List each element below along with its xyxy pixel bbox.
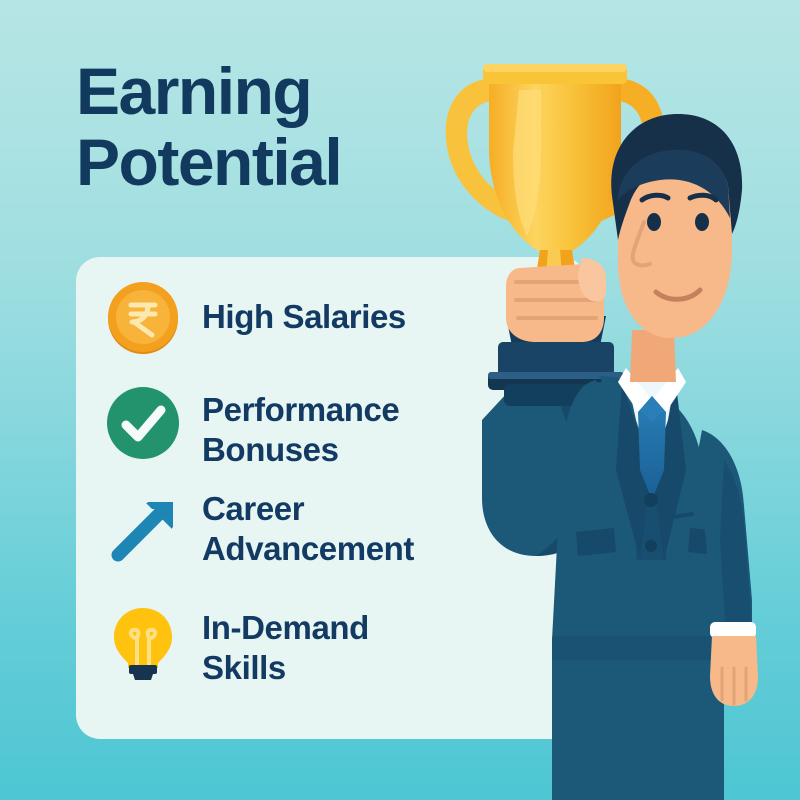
feature-item-in-demand-skills[interactable]: In-Demand Skills [104,602,369,689]
feature-item-career-advancement[interactable]: Career Advancement [104,489,414,570]
check-circle-icon [104,384,182,462]
feature-label: In-Demand Skills [202,602,369,689]
feature-item-high-salaries[interactable]: High Salaries [104,279,406,357]
arrow-up-right-icon [104,489,182,567]
feature-label: Performance Bonuses [202,384,399,471]
page-title: Earning Potential [76,56,496,199]
rupee-coin-icon [104,279,182,357]
feature-list: High Salaries Performance Bonuses Car [76,257,636,739]
lightbulb-icon [104,602,182,680]
feature-label: High Salaries [202,279,406,337]
feature-item-performance-bonuses[interactable]: Performance Bonuses [104,384,399,471]
poster-root: Earning Potential [0,0,800,800]
feature-label: Career Advancement [202,489,414,570]
hanging-arm [696,430,758,706]
